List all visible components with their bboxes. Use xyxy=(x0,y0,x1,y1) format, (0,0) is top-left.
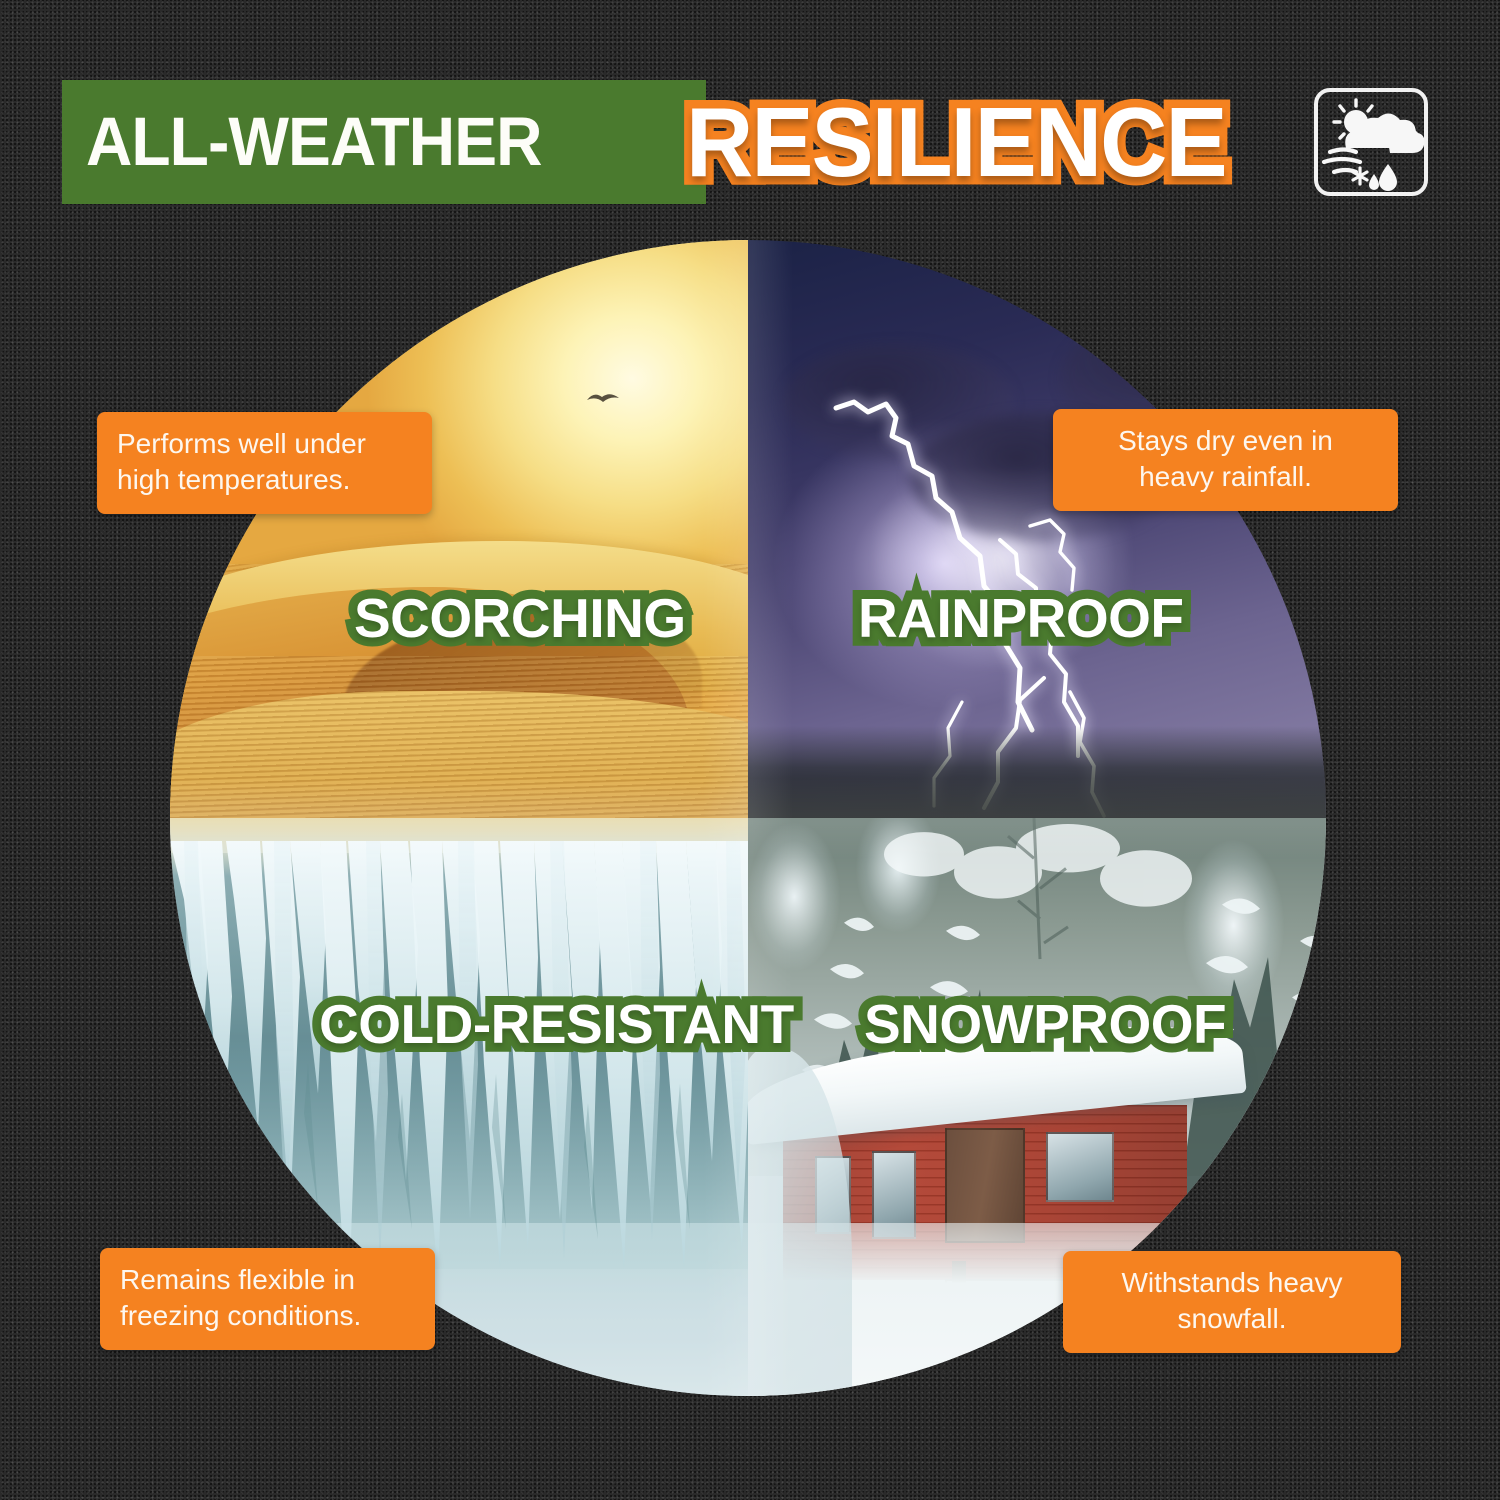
callout-line-2: freezing conditions. xyxy=(120,1298,415,1334)
header-banner: ALL-WEATHER RESILIENCE xyxy=(62,80,1436,204)
quadrant-scorching-desert xyxy=(170,240,748,818)
page-title-secondary: RESILIENCE xyxy=(686,86,1226,198)
callout-high-temperatures: Performs well under high temperatures. xyxy=(97,412,432,514)
quadrant-label-snowproof: SNOWPROOF xyxy=(864,997,1226,1052)
quadrant-label-rainproof: RAINPROOF xyxy=(858,591,1184,646)
storm-tree-line xyxy=(748,726,1326,818)
callout-line-1: Performs well under xyxy=(117,426,412,462)
callout-heavy-snowfall: Withstands heavy snowfall. xyxy=(1063,1251,1401,1353)
desert-ripple-texture-near xyxy=(170,656,748,818)
quadrant-rainproof-storm xyxy=(748,240,1326,818)
callout-line-1: Stays dry even in xyxy=(1073,423,1378,459)
callout-line-2: high temperatures. xyxy=(117,462,412,498)
callout-line-2: heavy rainfall. xyxy=(1073,459,1378,495)
callout-freezing-conditions: Remains flexible in freezing conditions. xyxy=(100,1248,435,1350)
callout-line-1: Remains flexible in xyxy=(120,1262,415,1298)
cabin-window xyxy=(1046,1132,1115,1201)
callout-heavy-rainfall: Stays dry even in heavy rainfall. xyxy=(1053,409,1398,511)
quadrant-label-cold-resistant: COLD-RESISTANT xyxy=(319,997,794,1052)
bird-silhouette-icon xyxy=(586,390,620,406)
page-title-primary: ALL-WEATHER xyxy=(86,98,542,186)
infographic-page: ALL-WEATHER RESILIENCE xyxy=(0,0,1500,1500)
quadrant-label-scorching: SCORCHING xyxy=(354,591,686,646)
callout-line-1: Withstands heavy xyxy=(1083,1265,1381,1301)
callout-line-2: snowfall. xyxy=(1083,1301,1381,1337)
mixed-weather-icon xyxy=(1310,86,1432,198)
